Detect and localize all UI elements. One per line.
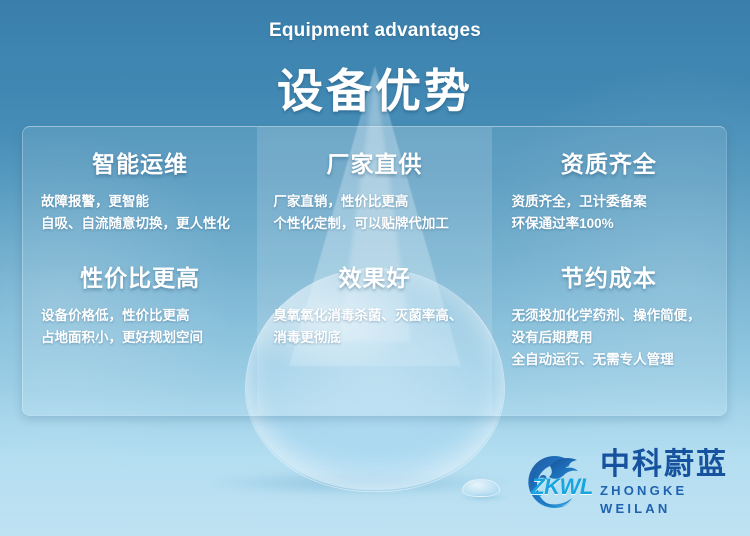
logo-company-name-cn: 中科蔚蓝: [600, 449, 738, 481]
advantage-title: 性价比更高: [37, 259, 243, 293]
advantage-line: 没有后期费用: [512, 327, 712, 349]
page-title: 设备优势: [0, 55, 750, 121]
advantage-line: 环保通过率100%: [512, 213, 712, 235]
advantage-line: 全自动运行、无需专人管理: [512, 349, 712, 371]
advantage-block: 资质齐全 资质齐全，卫计委备案 环保通过率100%: [506, 145, 712, 235]
advantage-line: 设备价格低，性价比更高: [41, 305, 243, 327]
advantage-lines: 厂家直销，性价比更高 个性化定制，可以贴牌代加工: [271, 191, 477, 235]
advantage-line: 占地面积小，更好规划空间: [41, 327, 243, 349]
company-logo: ZKWL 中科蔚蓝 ZHONGKE WEILAN: [516, 450, 738, 516]
advantage-line: 个性化定制，可以贴牌代加工: [273, 213, 477, 235]
advantage-block: 节约成本 无须投加化学药剂、操作简便， 没有后期费用 全自动运行、无需专人管理: [506, 259, 712, 371]
advantage-line: 自吸、自流随意切换，更人性化: [41, 213, 243, 235]
mini-droplet: [462, 479, 500, 497]
advantage-title: 资质齐全: [506, 145, 712, 179]
advantage-line: 故障报警，更智能: [41, 191, 243, 213]
advantages-panel: 智能运维 故障报警，更智能 自吸、自流随意切换，更人性化 性价比更高 设备价格低…: [22, 126, 727, 416]
advantage-line: 厂家直销，性价比更高: [273, 191, 477, 213]
logo-company-name-en: ZHONGKE WEILAN: [600, 482, 738, 518]
advantage-title: 效果好: [271, 259, 477, 293]
advantage-line: 臭氧氧化消毒杀菌、灭菌率高、: [273, 305, 477, 327]
logo-abbreviation: ZKWL: [524, 474, 600, 500]
advantage-title: 节约成本: [506, 259, 712, 293]
advantage-title: 智能运维: [37, 145, 243, 179]
eyebrow-title: Equipment advantages: [0, 20, 750, 42]
advantage-lines: 设备价格低，性价比更高 占地面积小，更好规划空间: [37, 305, 243, 349]
advantage-lines: 臭氧氧化消毒杀菌、灭菌率高、 消毒更彻底: [271, 305, 477, 349]
advantage-block: 性价比更高 设备价格低，性价比更高 占地面积小，更好规划空间: [37, 259, 243, 349]
advantage-title: 厂家直供: [271, 145, 477, 179]
advantage-column-right: 资质齐全 资质齐全，卫计委备案 环保通过率100% 节约成本 无须投加化学药剂、…: [492, 127, 726, 415]
dolphin-swirl-icon: ZKWL: [516, 452, 594, 514]
mini-droplet-shadow: [460, 493, 506, 501]
logo-text-lockup: 中科蔚蓝 ZHONGKE WEILAN: [600, 449, 738, 518]
advantage-block: 智能运维 故障报警，更智能 自吸、自流随意切换，更人性化: [37, 145, 243, 235]
advantage-column-middle: 厂家直供 厂家直销，性价比更高 个性化定制，可以贴牌代加工 效果好 臭氧氧化消毒…: [257, 127, 491, 415]
advantage-lines: 无须投加化学药剂、操作简便， 没有后期费用 全自动运行、无需专人管理: [506, 305, 712, 371]
advantage-block: 厂家直供 厂家直销，性价比更高 个性化定制，可以贴牌代加工: [271, 145, 477, 235]
advantage-line: 资质齐全，卫计委备案: [512, 191, 712, 213]
water-drop-shadow: [210, 470, 510, 496]
advantage-block: 效果好 臭氧氧化消毒杀菌、灭菌率高、 消毒更彻底: [271, 259, 477, 349]
advantage-lines: 故障报警，更智能 自吸、自流随意切换，更人性化: [37, 191, 243, 235]
advantage-line: 消毒更彻底: [273, 327, 477, 349]
advantage-lines: 资质齐全，卫计委备案 环保通过率100%: [506, 191, 712, 235]
advantage-column-left: 智能运维 故障报警，更智能 自吸、自流随意切换，更人性化 性价比更高 设备价格低…: [23, 127, 257, 415]
advantage-line: 无须投加化学药剂、操作简便，: [512, 305, 712, 327]
promo-banner: Equipment advantages 设备优势 智能运维 故障报警，更智能 …: [0, 0, 750, 536]
